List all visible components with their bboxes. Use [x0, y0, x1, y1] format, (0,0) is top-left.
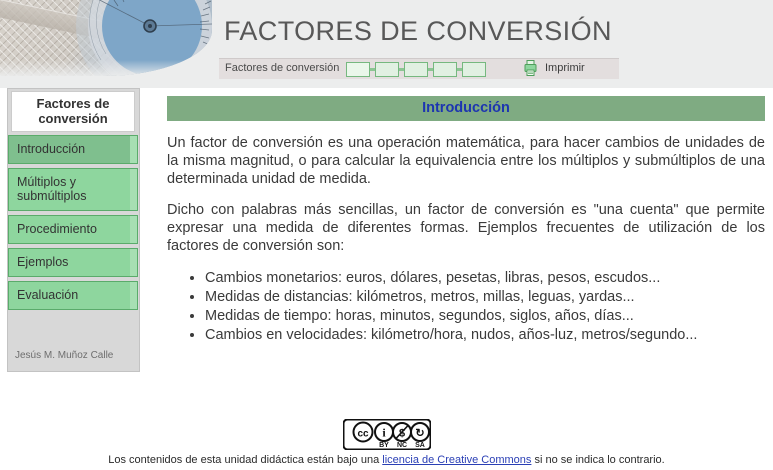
list-item: Medidas de tiempo: horas, minutos, segun… [205, 307, 765, 325]
paragraph-1: Un factor de conversión es una operación… [167, 134, 765, 188]
protractor-photo [0, 0, 212, 76]
list-item: Medidas de distancias: kilómetros, metro… [205, 288, 765, 306]
examples-list: Cambios monetarios: euros, dólares, pese… [167, 269, 765, 344]
cc-by-nc-sa-icon[interactable]: cc i $ ↻ BY NC SA [343, 419, 431, 450]
section-title: Introducción [167, 96, 765, 121]
sidebar-item-label: Introducción [17, 142, 85, 156]
photo-fade [0, 60, 212, 76]
print-button[interactable]: Imprimir [524, 60, 585, 76]
license-link[interactable]: licencia de Creative Commons [382, 454, 531, 466]
progress-step-4[interactable] [433, 62, 457, 77]
sidebar: Factores de conversión Introducción Múlt… [7, 88, 140, 372]
page-header: FACTORES DE CONVERSIÓN Factores de conve… [0, 0, 773, 88]
lesson-toolbar: Factores de conversión Imprimir [219, 58, 619, 79]
list-item: Cambios en velocidades: kilómetro/hora, … [205, 326, 765, 344]
nav-item-tab [130, 215, 138, 244]
page-footer: cc i $ ↻ BY NC SA Los contenidos de esta… [0, 419, 773, 466]
license-text-before: Los contenidos de esta unidad didáctica … [108, 454, 382, 466]
sidebar-item-multiplos-y-submultiplos[interactable]: Múltiplos y submúltiplos [8, 168, 131, 211]
svg-text:SA: SA [415, 442, 425, 449]
progress-step-2[interactable] [375, 62, 399, 77]
nav-item-tab [130, 248, 138, 277]
sidebar-item-evaluacion[interactable]: Evaluación [8, 281, 131, 310]
license-notice: Los contenidos de esta unidad didáctica … [0, 454, 773, 466]
author-credit: Jesús M. Muñoz Calle [15, 350, 113, 361]
sidebar-nav: Introducción Múltiplos y submúltiplos Pr… [8, 135, 139, 314]
toolbar-lesson-label: Factores de conversión [225, 62, 339, 74]
printer-icon [524, 60, 537, 76]
sidebar-item-procedimiento[interactable]: Procedimiento [8, 215, 131, 244]
nav-item-tab [130, 168, 138, 211]
sidebar-item-label: Evaluación [17, 288, 78, 302]
paragraph-2: Dicho con palabras más sencillas, un fac… [167, 201, 765, 255]
progress-step-3[interactable] [404, 62, 428, 77]
sidebar-item-label: Procedimiento [17, 222, 97, 236]
print-label: Imprimir [545, 62, 585, 74]
progress-step-chain[interactable] [346, 62, 486, 77]
license-text-after: si no se indica lo contrario. [531, 454, 664, 466]
page-title: FACTORES DE CONVERSIÓN [224, 16, 612, 47]
progress-step-1[interactable] [346, 62, 370, 77]
svg-text:BY: BY [379, 442, 389, 449]
list-item: Cambios monetarios: euros, dólares, pese… [205, 269, 765, 287]
main-content: Introducción Un factor de conversión es … [167, 96, 765, 345]
svg-text:NC: NC [396, 442, 406, 449]
svg-text:cc: cc [357, 429, 369, 440]
nav-item-tab [130, 281, 138, 310]
progress-step-5[interactable] [462, 62, 486, 77]
nav-item-tab [130, 135, 138, 164]
sidebar-item-label: Ejemplos [17, 255, 68, 269]
sidebar-title: Factores de conversión [11, 91, 135, 132]
sidebar-item-label: Múltiplos y submúltiplos [17, 175, 86, 203]
sidebar-item-introduccion[interactable]: Introducción [8, 135, 131, 164]
sidebar-item-ejemplos[interactable]: Ejemplos [8, 248, 131, 277]
svg-text:↻: ↻ [415, 428, 424, 440]
